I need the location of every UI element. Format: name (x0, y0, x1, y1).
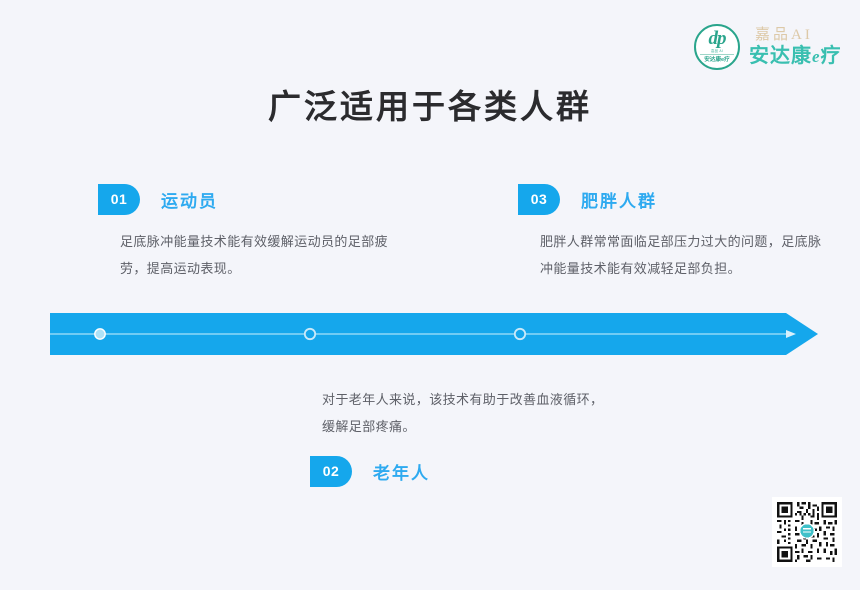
persona-card-header: 02 老年人 (310, 454, 640, 488)
persona-description: 足底脉冲能量技术能有效缓解运动员的足部疲劳，提高运动表现。 (120, 228, 412, 282)
brand-wordmark: 嘉品AI 安达康e疗 (749, 26, 842, 69)
persona-card-header: 03 肥胖人群 (518, 182, 848, 216)
brand-logo-mark-icon: dp 嘉品 AI 安达康e疗 (694, 24, 740, 70)
qr-logo-detail (803, 531, 811, 532)
persona-number-badge: 03 (518, 184, 560, 215)
page-title: 广泛适用于各类人群 (0, 80, 860, 128)
persona-title: 老年人 (373, 459, 430, 484)
persona-number-badge: 02 (310, 456, 352, 487)
timeline-marker (515, 329, 525, 339)
brand-name-secondary-e: e (812, 47, 821, 66)
brand-mark-mini-bottom: 安达康e疗 (700, 54, 734, 64)
timeline-arrow (50, 313, 818, 355)
persona-card-03: 03 肥胖人群 肥胖人群常常面临足部压力过大的问题，足底脉冲能量技术能有效减轻足… (518, 182, 848, 282)
persona-card-header: 01 运动员 (98, 182, 428, 216)
brand-monogram: dp (696, 29, 738, 49)
brand-name-secondary: 安达康e疗 (749, 44, 842, 69)
persona-card-01: 01 运动员 足底脉冲能量技术能有效缓解运动员的足部疲劳，提高运动表现。 (98, 182, 428, 282)
qr-center-logo-icon (800, 524, 813, 537)
brand-name-primary: 嘉品AI (755, 26, 842, 44)
qr-code[interactable] (772, 497, 842, 567)
timeline-marker (95, 329, 105, 339)
persona-description: 对于老年人来说，该技术有助于改善血液循环，缓解足部疼痛。 (322, 386, 612, 440)
brand-logo: dp 嘉品 AI 安达康e疗 嘉品AI 安达康e疗 (694, 18, 844, 76)
persona-card-02: 对于老年人来说，该技术有助于改善血液循环，缓解足部疼痛。 02 老年人 (310, 386, 640, 488)
persona-description: 肥胖人群常常面临足部压力过大的问题，足底脉冲能量技术能有效减轻足部负担。 (540, 228, 832, 282)
persona-number-badge: 01 (98, 184, 140, 215)
persona-title: 肥胖人群 (581, 187, 657, 212)
brand-name-secondary-text: 安达康 (749, 45, 812, 67)
brand-name-secondary-tail: 疗 (821, 45, 842, 67)
qr-logo-detail (803, 528, 811, 529)
persona-title: 运动员 (161, 187, 218, 212)
timeline-marker (305, 329, 315, 339)
